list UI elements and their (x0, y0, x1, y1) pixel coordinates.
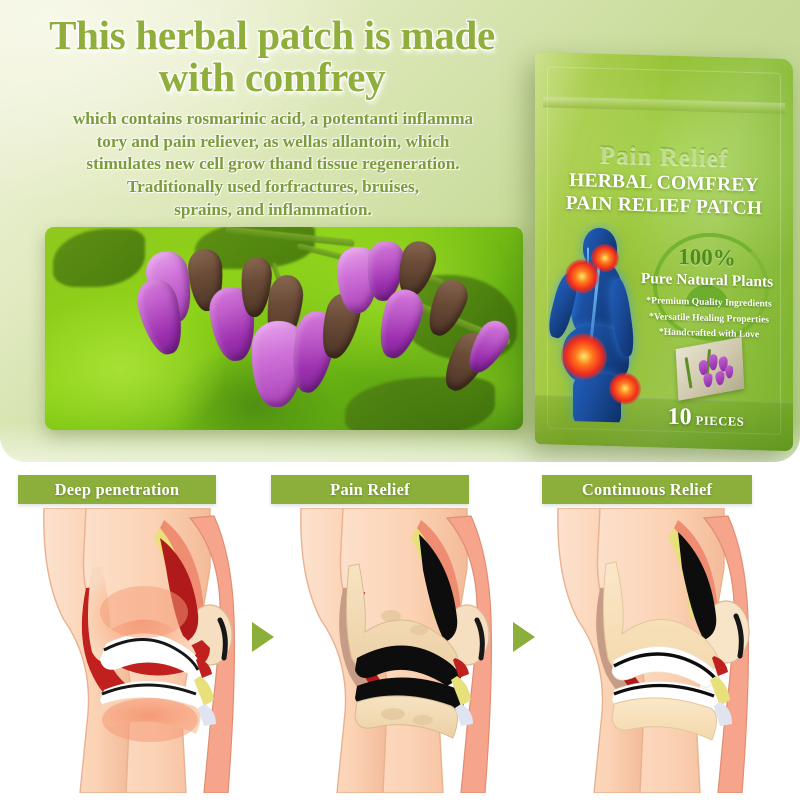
step-label-2: Pain Relief (271, 475, 469, 504)
step-panel-deep-penetration: Deep penetration (6, 462, 264, 800)
headline-line-1: This herbal patch is made (49, 12, 495, 58)
page-title: This herbal patch is made with comfrey (18, 14, 526, 98)
step-panel-continuous-relief: Continuous Relief (520, 462, 778, 800)
description-line-3: stimulates new cell grow thand tissue re… (18, 153, 528, 176)
quantity-unit: PIECES (696, 413, 745, 428)
patch-product-thumbnail (676, 337, 745, 401)
hero-panel: This herbal patch is made with comfrey w… (0, 0, 800, 462)
hero-description: which contains rosmarinic acid, a potent… (18, 108, 528, 222)
package-zipper (543, 96, 785, 114)
product-package: Pain Relief HERBAL COMFREY PAIN RELIEF P… (535, 52, 793, 444)
package-product-name: HERBAL COMFREY PAIN RELIEF PATCH (543, 168, 785, 221)
knee-illustration-reduced (271, 508, 515, 793)
quantity-number: 10 (668, 404, 692, 431)
package-bag: Pain Relief HERBAL COMFREY PAIN RELIEF P… (535, 52, 793, 451)
quantity-label: 10 PIECES (631, 403, 781, 434)
package-feature-list: *Premium Quality Ingredients *Versatile … (629, 293, 789, 344)
step-label-1: Deep penetration (18, 475, 216, 504)
benefit-steps-section: Deep penetration (0, 462, 800, 800)
description-line-4: Traditionally used forfractures, bruises… (18, 176, 528, 199)
description-line-2: tory and pain reliever, as wellas allant… (18, 131, 528, 154)
product-infographic: This herbal patch is made with comfrey w… (0, 0, 800, 800)
step-label-3: Continuous Relief (542, 475, 752, 504)
description-line-5: sprains, and inflammation. (18, 199, 528, 222)
description-line-1: which contains rosmarinic acid, a potent… (18, 108, 528, 131)
comfrey-flowers-photo (45, 227, 523, 430)
knee-illustration-inflamed (14, 508, 258, 793)
badge-percent: 100% (653, 243, 761, 272)
knee-illustration-healthy (528, 508, 772, 793)
headline-line-2: with comfrey (18, 56, 526, 98)
step-panel-pain-relief: Pain Relief (263, 462, 521, 800)
